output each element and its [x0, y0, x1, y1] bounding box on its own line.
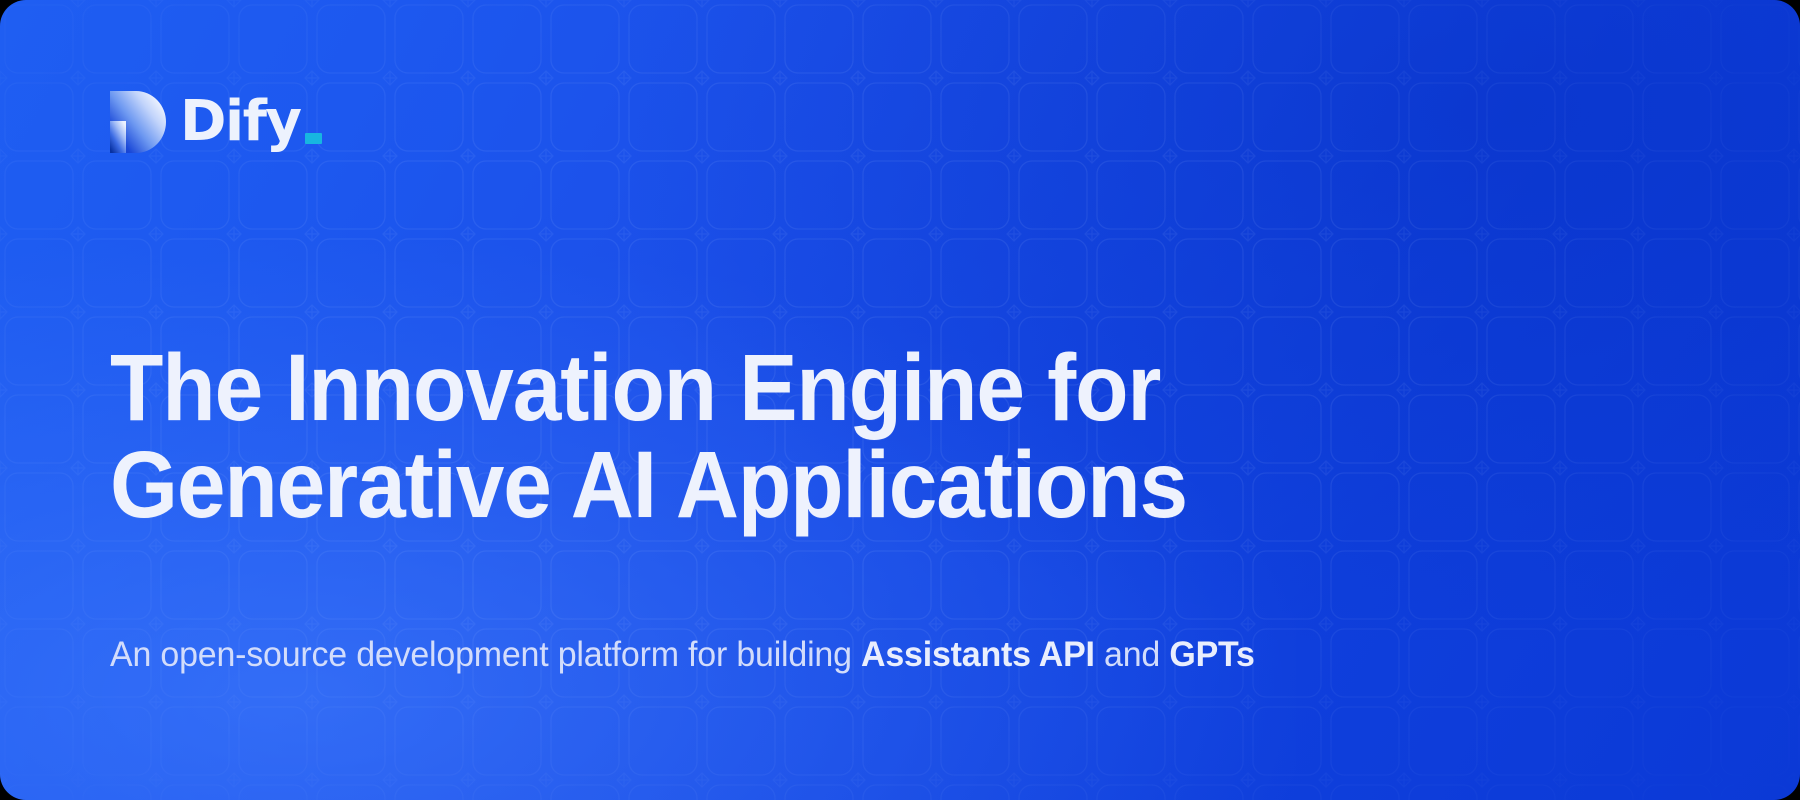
- subtitle-prefix: An open-source development platform for …: [110, 635, 861, 674]
- subtitle-conjunction: and: [1095, 635, 1170, 674]
- hero-banner: Dify The Innovation Engine for Generativ…: [0, 0, 1800, 800]
- brand-accent-dash: [305, 133, 322, 144]
- page-subtitle: An open-source development platform for …: [110, 632, 1255, 678]
- subtitle-highlight-gpts: GPTs: [1169, 635, 1254, 674]
- background-shade: [630, 0, 1800, 640]
- dify-d-mark-icon: [110, 91, 166, 153]
- brand-logo[interactable]: Dify: [110, 88, 301, 156]
- page-title: The Innovation Engine for Generative AI …: [110, 340, 1214, 534]
- brand-wordmark: Dify: [180, 94, 301, 150]
- subtitle-highlight-assistants-api: Assistants API: [861, 635, 1095, 674]
- brand-wordmark-text: Dify: [180, 94, 301, 150]
